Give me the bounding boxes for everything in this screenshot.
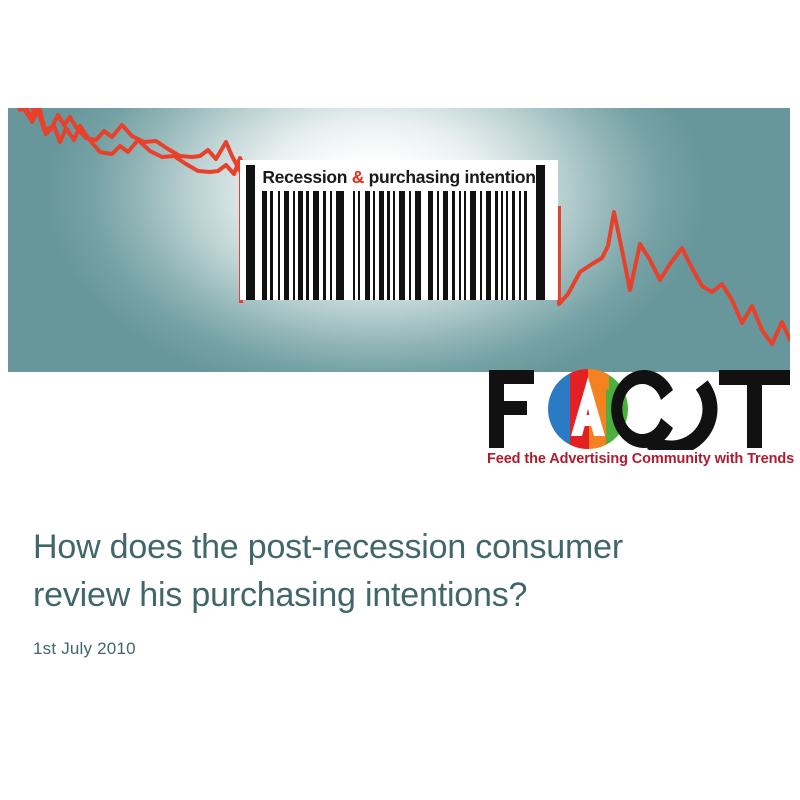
barcode-bar — [428, 191, 433, 300]
barcode-label: Recession & purchasing intention — [240, 165, 558, 189]
barcode-bar — [393, 191, 395, 300]
barcode-label-prefix: Recession — [262, 167, 351, 187]
barcode-bar — [415, 191, 421, 300]
fact-logo: Feed the Advertising Community with Tren… — [487, 368, 792, 480]
logo-letter-c — [611, 368, 726, 450]
barcode-bar — [512, 191, 515, 300]
trendline-right — [559, 212, 790, 344]
barcode-bar — [470, 191, 476, 300]
barcode-bar — [278, 191, 280, 300]
barcode-bar — [437, 191, 439, 300]
trendline-left-main — [16, 108, 248, 183]
fact-tagline: Feed the Advertising Community with Tren… — [487, 451, 792, 467]
barcode-bar — [459, 191, 461, 300]
barcode-label-ampersand: & — [352, 167, 364, 187]
barcode-bar — [519, 191, 521, 300]
barcode-graphic: Recession & purchasing intention — [240, 160, 558, 300]
barcode-bar — [270, 191, 273, 300]
barcode-bar — [373, 191, 375, 300]
barcode-bar — [336, 191, 344, 300]
barcode-bar — [313, 191, 319, 300]
fact-wordmark-graphic — [487, 368, 792, 450]
logo-letter-t — [719, 370, 790, 448]
barcode-bar — [306, 191, 309, 300]
barcode-bar — [284, 191, 289, 300]
barcode-bar — [323, 191, 326, 300]
barcode-bar — [524, 191, 527, 300]
barcode-bar — [501, 191, 503, 300]
barcode-bar — [298, 191, 303, 300]
logo-letter-f — [489, 370, 534, 448]
barcode-bar — [262, 191, 267, 300]
barcode-bar — [464, 191, 466, 300]
barcode-bar — [399, 191, 405, 300]
title-block: How does the post-recession consumer rev… — [33, 523, 763, 659]
barcode-bar — [486, 191, 491, 300]
barcode-bar — [365, 191, 370, 300]
barcode-bar — [443, 191, 448, 300]
barcode-bar — [495, 191, 498, 300]
barcode-bar — [506, 191, 508, 300]
barcode-bar — [358, 191, 360, 300]
title-slide: Recession & purchasing intention — [0, 0, 800, 800]
barcode-bar — [353, 191, 355, 300]
barcode-bar — [452, 191, 455, 300]
barcode-bar — [379, 191, 384, 300]
page-title: How does the post-recession consumer rev… — [33, 523, 763, 619]
barcode-bar — [330, 191, 332, 300]
barcode-bar — [387, 191, 390, 300]
barcode-label-suffix: purchasing intention — [364, 167, 536, 187]
slide-date: 1st July 2010 — [33, 639, 763, 659]
barcode-bar — [409, 191, 411, 300]
barcode-bar — [480, 191, 482, 300]
barcode-bar — [293, 191, 295, 300]
